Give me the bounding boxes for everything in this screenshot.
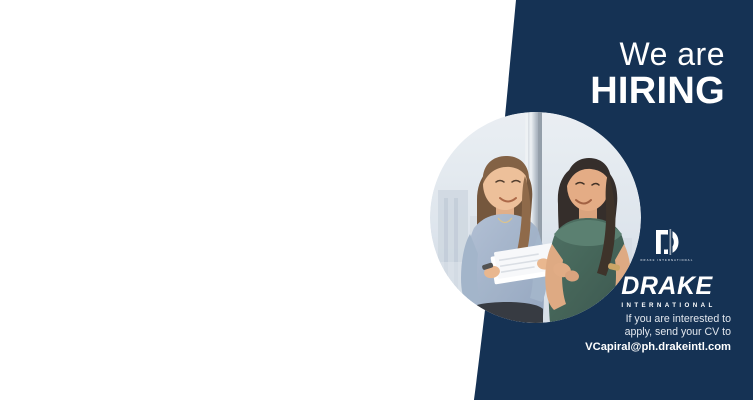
- drake-logo: DRAKE INTERNATIONAL DRAKE INTERNATIONAL: [607, 228, 727, 309]
- contact-block: If you are interested to apply, send you…: [531, 313, 731, 355]
- drake-wordmark: DRAKE: [607, 274, 727, 299]
- contact-email[interactable]: VCapiral@ph.drakeintl.com: [531, 340, 731, 355]
- hiring-poster: JAVA ENGINEER For an Oil and Gas Industr…: [0, 0, 753, 400]
- contact-line-1: If you are interested to: [531, 313, 731, 326]
- drake-monogram-caption: DRAKE INTERNATIONAL: [607, 259, 727, 262]
- drake-monogram-icon: [654, 228, 680, 256]
- contact-line-2: apply, send your CV to: [531, 326, 731, 339]
- headline-line-1: We are: [590, 38, 725, 71]
- drake-tagline: INTERNATIONAL: [607, 302, 727, 309]
- headline-line-2: HIRING: [590, 72, 725, 111]
- headline: We are HIRING: [590, 38, 725, 110]
